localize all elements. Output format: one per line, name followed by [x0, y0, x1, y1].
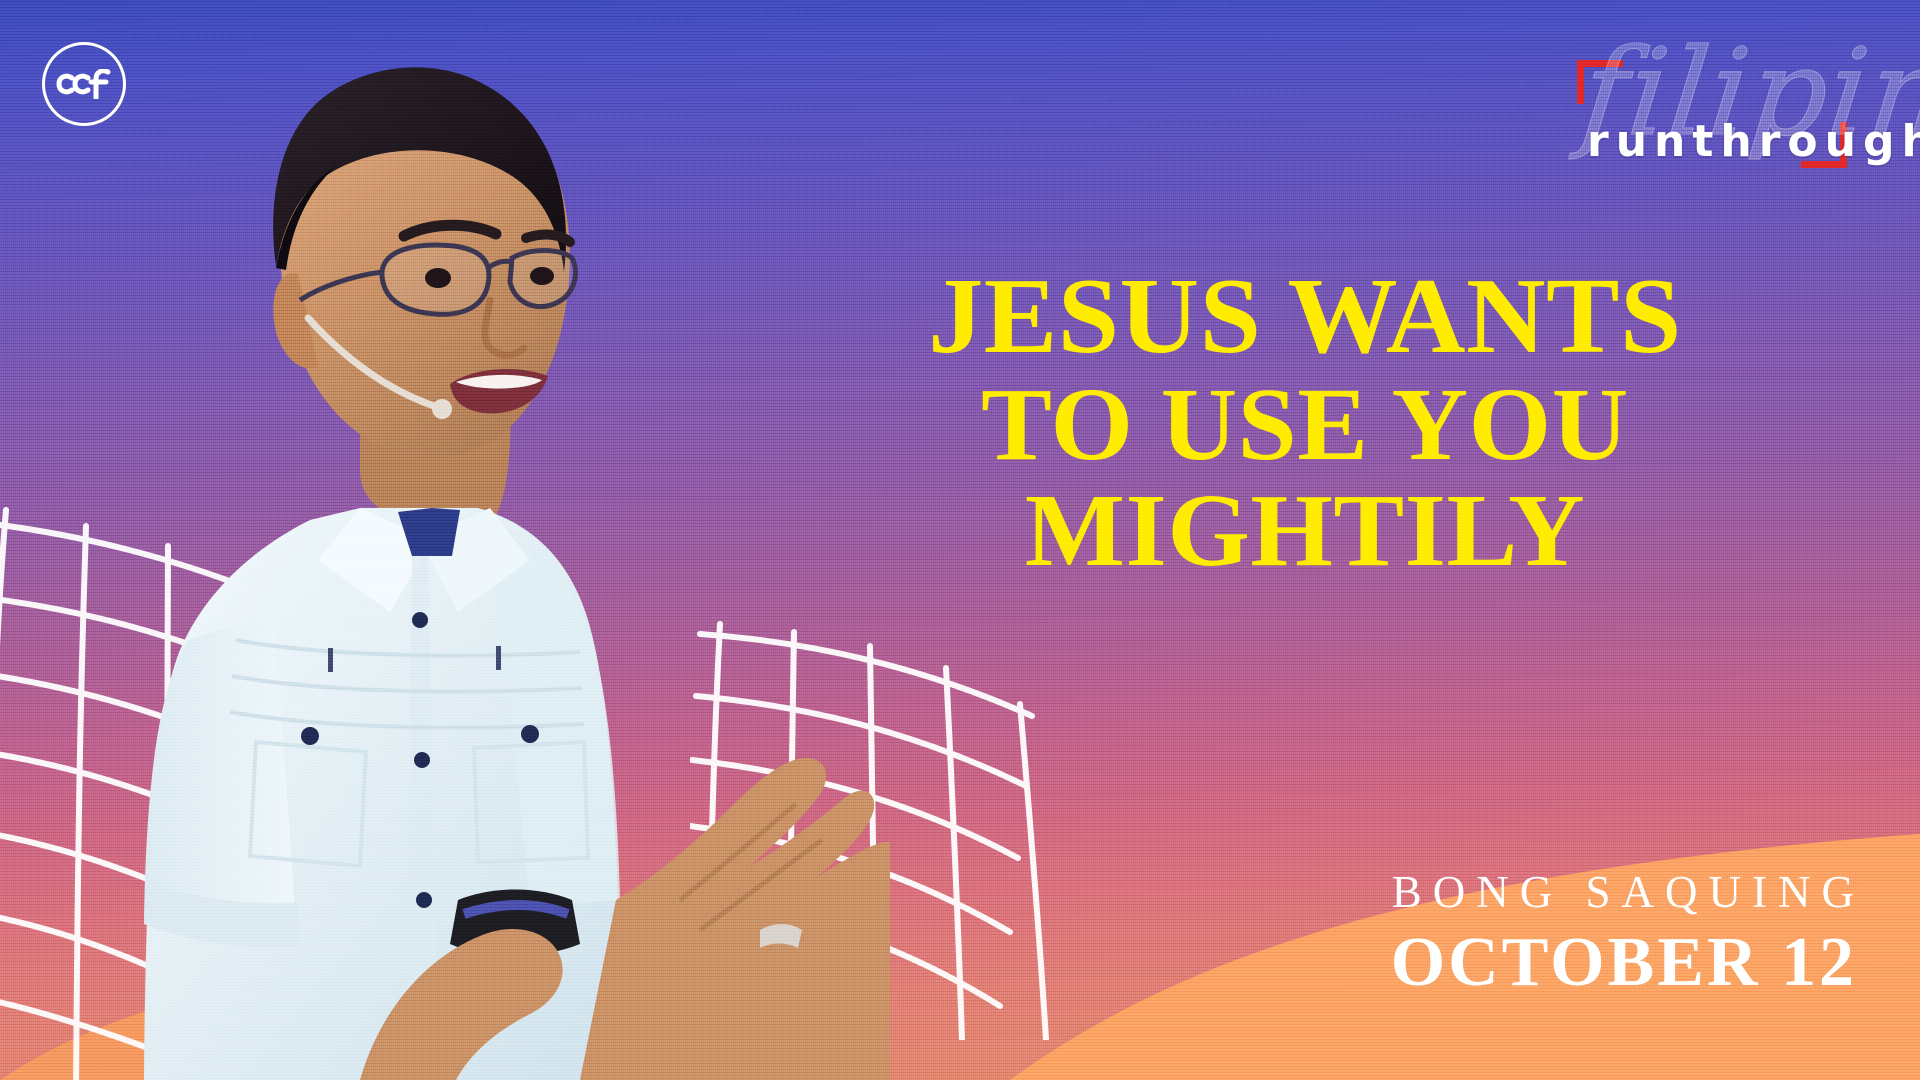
thumbnail-canvas: filipino runthrough JESUS WANTS TO USE Y… — [0, 0, 1920, 1080]
film-grain-overlay — [0, 0, 1920, 1080]
